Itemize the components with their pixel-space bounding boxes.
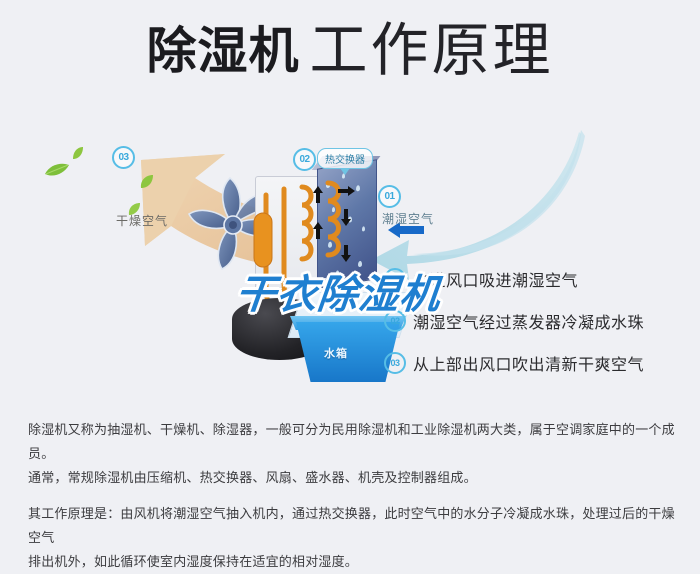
body-copy: 除湿机又称为抽湿机、干燥机、除湿器，一般可分为民用除湿机和工业除湿机两大类，属于…: [28, 418, 678, 574]
diagram-badge-03: 03: [112, 146, 135, 169]
leaf-icon: [44, 162, 70, 178]
diagram-badge-01: 01: [378, 185, 401, 208]
page-title-bold: 除湿机: [146, 23, 299, 79]
dry-air-label: 干燥空气: [116, 212, 168, 229]
page-title-light: 工作原理: [309, 18, 553, 83]
leaf-icon: [72, 146, 84, 160]
step-text-02: 潮湿空气经过蒸发器冷凝成水珠: [413, 309, 644, 333]
watermark-text: 干衣除湿机: [233, 273, 443, 317]
heat-exchanger-callout: 热交换器: [317, 148, 373, 169]
page-title: 除湿机工作原理: [0, 22, 700, 80]
leaf-icon: [140, 174, 154, 189]
step-badge-03: 03: [384, 352, 406, 374]
paragraph-gap: [28, 490, 678, 502]
step-text-03: 从上部出风口吹出清新干爽空气: [413, 351, 644, 375]
list-item: 03 从上部出风口吹出清新干爽空气: [384, 348, 684, 377]
paragraph-1-line-2: 通常，常规除湿机由压缩机、热交换器、风扇、盛水器、机壳及控制器组成。: [28, 466, 678, 490]
paragraph-2-line-2: 排出机外，如此循环使室内湿度保持在适宜的相对湿度。: [28, 550, 678, 574]
paragraph-2-line-1: 其工作原理是：由风机将潮湿空气抽入机内，通过热交换器，此时空气中的水分子冷凝成水…: [28, 502, 678, 550]
humid-air-label: 潮湿空气: [382, 210, 434, 227]
watermark-overlay: 干衣除湿机: [233, 262, 444, 320]
infographic-page: 除湿机工作原理: [0, 0, 700, 566]
paragraph-1-line-1: 除湿机又称为抽湿机、干燥机、除湿器，一般可分为民用除湿机和工业除湿机两大类，属于…: [28, 418, 678, 466]
water-tank-label: 水箱: [324, 345, 348, 361]
diagram-badge-02: 02: [293, 148, 316, 171]
